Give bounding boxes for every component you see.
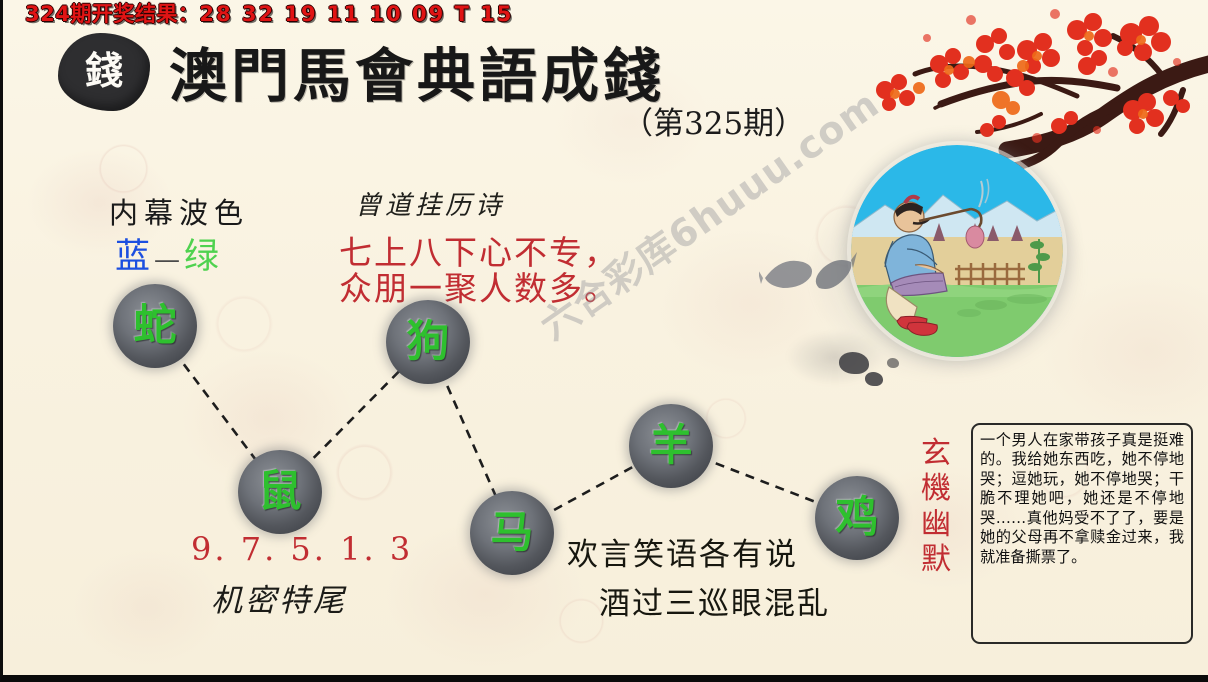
poster-canvas: 324期开奖结果：28 32 19 11 10 09 T 15 — [0, 0, 1208, 682]
saying-line-2: 酒过三巡眼混乱 — [599, 578, 830, 623]
bose-separator: — — [152, 245, 184, 275]
page-title: 澳門馬會典語成錢 — [169, 29, 665, 113]
joke-box: 一个男人在家带孩子真是挺难的。我给她东西吃，她不停地哭；逗她玩，她不停地哭；干脆… — [971, 423, 1193, 644]
vertical-label-char: 默 — [919, 542, 953, 577]
draw-result-numbers: 28 32 19 11 10 09 T 15 — [199, 2, 513, 26]
vertical-label-char: 幽 — [919, 507, 953, 542]
zodiac-char: 鸡 — [836, 497, 879, 540]
secret-tail-numbers: 9. 7. 5. 1. 3 — [191, 530, 413, 568]
ink-fish-right — [803, 250, 857, 294]
ink-splat-1 — [839, 352, 869, 374]
plum-blossom-branch — [831, 4, 1208, 179]
zodiac-circle[interactable]: 狗 — [386, 300, 470, 384]
joke-text: 一个男人在家带孩子真是挺难的。我给她东西吃，她不停地哭；逗她玩，她不停地哭；干脆… — [980, 431, 1184, 567]
zodiac-char: 鼠 — [259, 471, 302, 514]
zodiac-circle[interactable]: 蛇 — [113, 284, 197, 368]
ink-splat-3 — [887, 358, 899, 368]
ink-fish-left — [759, 248, 819, 294]
zodiac-circle[interactable]: 鸡 — [815, 476, 899, 560]
vertical-section-label: 玄機幽默 — [919, 436, 953, 578]
zodiac-circle[interactable]: 羊 — [629, 404, 713, 488]
zodiac-char: 羊 — [650, 425, 693, 468]
draw-result-label: 324期开奖结果： — [25, 2, 199, 26]
zodiac-char: 马 — [491, 512, 534, 555]
bose-values: 蓝—绿 — [115, 228, 221, 279]
ink-splat-2 — [865, 372, 883, 386]
secret-tail-label: 机密特尾 — [211, 575, 347, 620]
plum-flowers — [876, 9, 1190, 143]
bose-color-2: 绿 — [184, 237, 221, 277]
zodiac-circle[interactable]: 马 — [470, 491, 554, 575]
seal-logo: 錢 — [58, 33, 150, 111]
zodiac-char: 狗 — [407, 321, 450, 364]
zodiac-circle[interactable]: 鼠 — [238, 450, 322, 534]
seal-char: 錢 — [85, 52, 123, 90]
poem-line-2: 众朋一聚人数多。 — [339, 262, 619, 310]
vertical-label-char: 玄 — [919, 436, 953, 471]
zodiac-char: 蛇 — [134, 305, 177, 348]
issue-number: （第325期） — [622, 98, 805, 143]
draw-result-bar: 324期开奖结果：28 32 19 11 10 09 T 15 — [25, 0, 513, 28]
vertical-label-char: 機 — [919, 471, 953, 506]
saying-line-1: 欢言笑语各有说 — [567, 529, 798, 574]
poem-heading: 曾道挂历诗 — [355, 185, 505, 222]
bose-color-1: 蓝 — [115, 237, 152, 277]
illustration-medallion — [851, 145, 1063, 357]
bose-label: 内幕波色 — [109, 190, 249, 232]
